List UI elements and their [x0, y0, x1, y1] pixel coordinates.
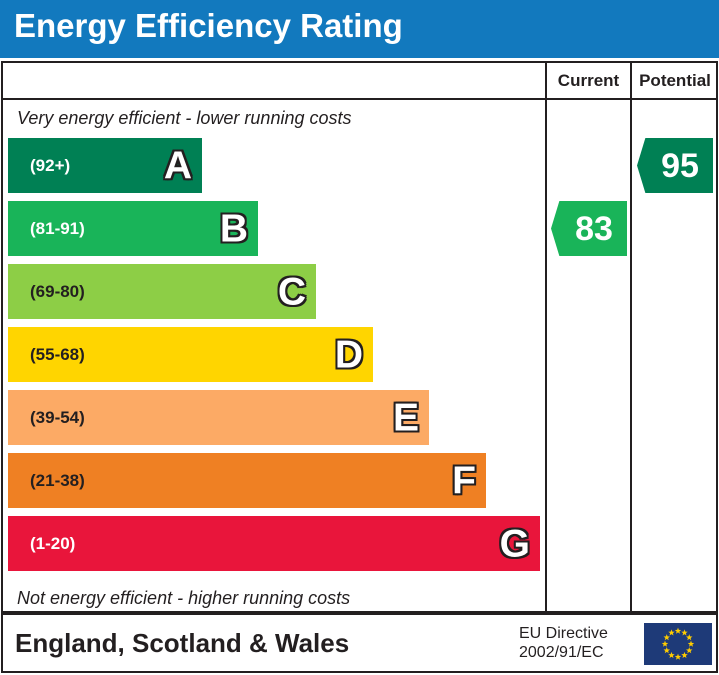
- eu-star: [675, 654, 681, 660]
- rating-chart: Current Potential Very energy efficient …: [1, 61, 718, 613]
- column-divider-current: [545, 63, 547, 611]
- eu-star: [686, 647, 692, 653]
- epc-certificate: Energy Efficiency Rating Current Potenti…: [0, 0, 719, 675]
- eu-star: [681, 629, 687, 635]
- band-g: (1-20)G: [8, 516, 540, 571]
- band-range-e: (39-54): [30, 408, 85, 428]
- band-c: (69-80)C: [8, 264, 316, 319]
- eu-star: [668, 652, 674, 658]
- eu-star: [664, 634, 670, 640]
- caption-efficient: Very energy efficient - lower running co…: [17, 108, 352, 129]
- page-title: Energy Efficiency Rating: [14, 7, 403, 45]
- band-d: (55-68)D: [8, 327, 373, 382]
- band-range-d: (55-68): [30, 345, 85, 365]
- footer-region: England, Scotland & Wales: [15, 628, 349, 659]
- rating-value-current: 83: [565, 212, 613, 246]
- eu-star: [668, 629, 674, 635]
- band-range-a: (92+): [30, 156, 70, 176]
- eu-star: [681, 652, 687, 658]
- band-letter-c: C: [278, 272, 306, 311]
- band-f: (21-38)F: [8, 453, 486, 508]
- eu-star: [664, 647, 670, 653]
- band-letter-e: E: [393, 398, 419, 437]
- eu-star: [688, 641, 694, 647]
- band-range-g: (1-20): [30, 534, 75, 554]
- band-a: (92+)A: [8, 138, 202, 193]
- rating-value-potential: 95: [651, 149, 699, 183]
- footer-directive-line2: 2002/91/EC: [519, 643, 608, 662]
- band-letter-f: F: [452, 461, 476, 500]
- footer-directive: EU Directive 2002/91/EC: [519, 624, 608, 662]
- band-e: (39-54)E: [8, 390, 429, 445]
- eu-stars: [644, 623, 712, 665]
- eu-star: [662, 641, 668, 647]
- column-header-current: Current: [547, 71, 630, 91]
- band-range-c: (69-80): [30, 282, 85, 302]
- caption-inefficient: Not energy efficient - higher running co…: [17, 588, 350, 609]
- rating-arrow-current: 83: [551, 201, 627, 256]
- band-list: (92+)A(81-91)B(69-80)C(55-68)D(39-54)E(2…: [8, 138, 540, 586]
- band-letter-a: A: [164, 146, 192, 185]
- footer-directive-line1: EU Directive: [519, 624, 608, 643]
- band-letter-b: B: [220, 209, 248, 248]
- band-letter-d: D: [335, 335, 363, 374]
- footer: England, Scotland & Wales EU Directive 2…: [1, 613, 718, 673]
- eu-flag-icon: [644, 623, 712, 665]
- eu-star: [675, 628, 681, 634]
- rating-arrow-potential: 95: [637, 138, 713, 193]
- column-divider-potential: [630, 63, 632, 611]
- band-range-f: (21-38): [30, 471, 85, 491]
- eu-star: [686, 634, 692, 640]
- column-header-potential: Potential: [632, 71, 718, 91]
- band-letter-g: G: [500, 524, 530, 563]
- band-range-b: (81-91): [30, 219, 85, 239]
- band-b: (81-91)B: [8, 201, 258, 256]
- title-bar: Energy Efficiency Rating: [0, 0, 719, 58]
